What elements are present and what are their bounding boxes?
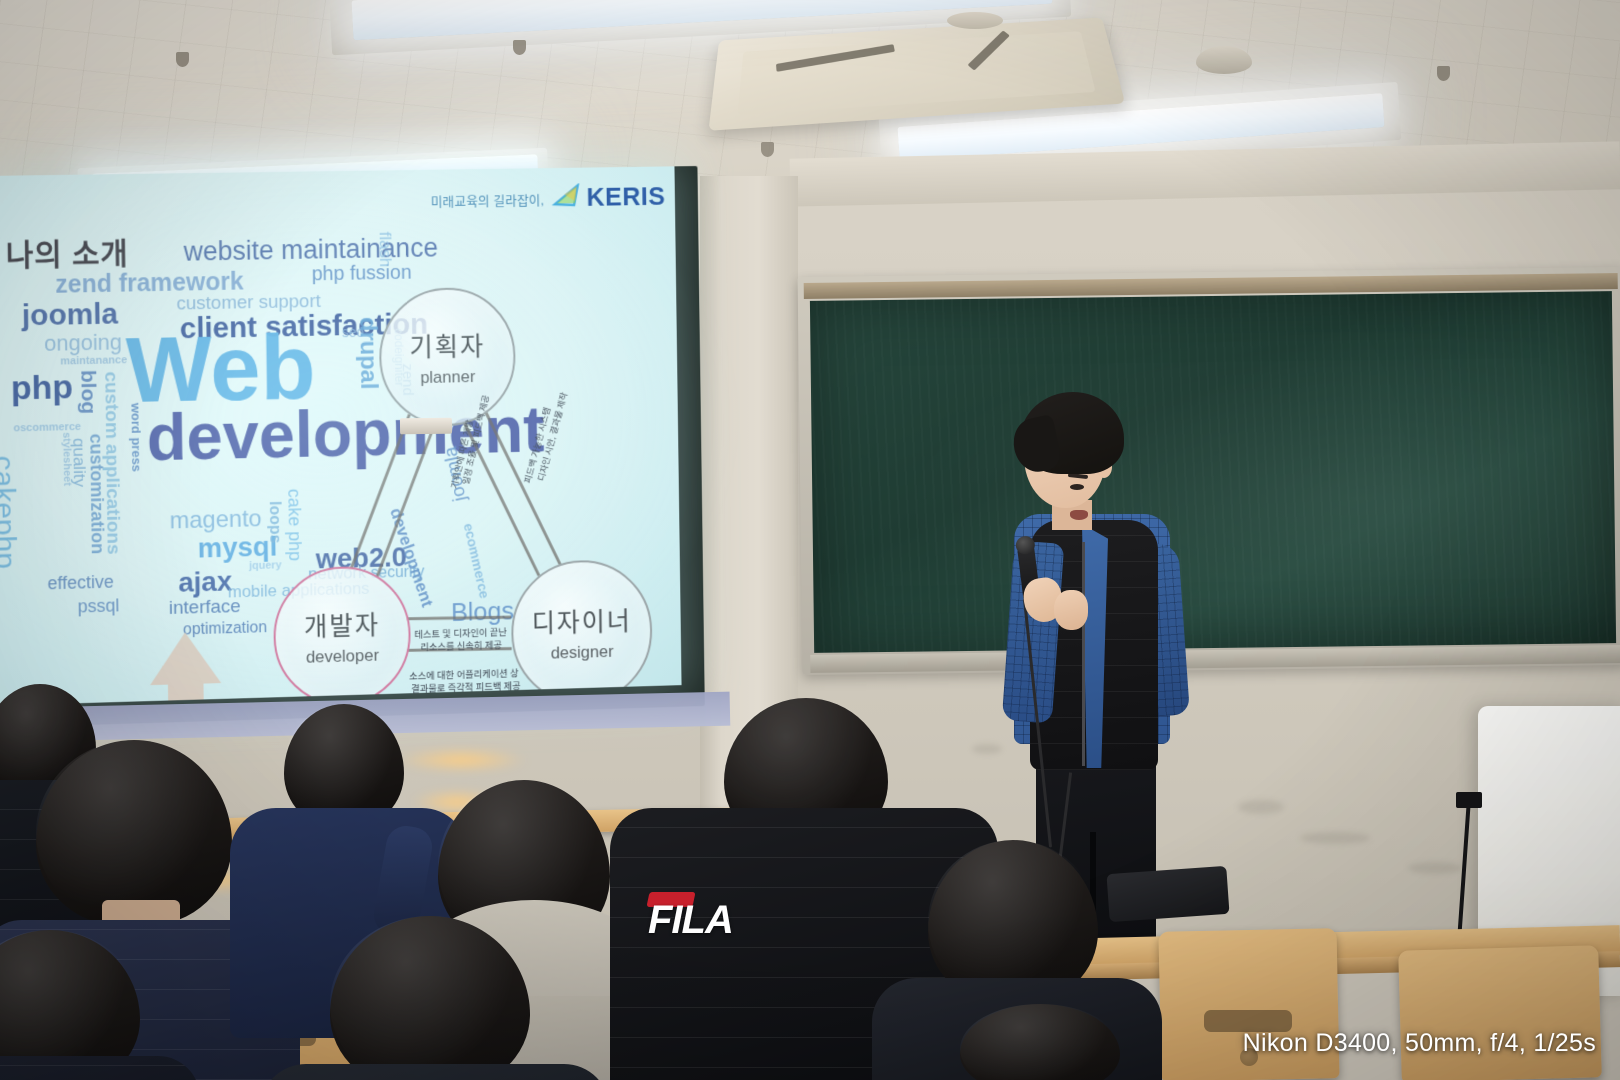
word-cloud-term: joomla (22, 300, 118, 332)
diagram-caption: 테스트 및 디자인이 끝난 (414, 627, 507, 641)
role-circle-designer: 디자이너designer (510, 559, 653, 706)
presenter-eye (1070, 484, 1084, 490)
role-circle-developer: 개발자developer (273, 565, 412, 706)
word-cloud-term: customization (87, 433, 107, 554)
role-label-ko: 개발자 (304, 605, 381, 644)
sprinkler-head-2 (513, 40, 526, 55)
word-cloud-term: magento (169, 507, 261, 533)
keris-arrow-icon (551, 183, 580, 209)
keris-wordmark: KERIS (586, 183, 665, 210)
role-label-ko: 디자이너 (531, 601, 631, 640)
role-label-ko: 기획자 (409, 326, 485, 364)
smoke-detector (1196, 46, 1252, 74)
word-cloud-term: cakephp (0, 455, 19, 569)
ceiling-vent (947, 12, 1003, 29)
presenter-vest-zipper (1082, 542, 1085, 766)
sprinkler-head-4 (1437, 66, 1450, 81)
word-cloud-term: stylesheet (60, 432, 72, 486)
fila-wordmark: FILA (648, 898, 796, 942)
keris-logo: 미래교육의 길라잡이, KERIS (431, 182, 666, 212)
wall-mark-3 (1408, 862, 1462, 874)
keris-tagline: 미래교육의 길라잡이, (431, 190, 545, 212)
projection-screen: 미래교육의 길라잡이, KERIS . 나의 소개 website mainta… (0, 166, 705, 728)
hair-highlight (330, 916, 530, 1080)
audience-head (36, 740, 232, 926)
chair-behind-presenter (1106, 866, 1229, 922)
word-cloud-term: Blogs (451, 598, 514, 625)
classroom-photo: 미래교육의 길라잡이, KERIS . 나의 소개 website mainta… (0, 0, 1620, 1080)
presenter-mouth (1070, 510, 1088, 520)
word-cloud-term: interface (169, 597, 241, 618)
audience-head (330, 916, 530, 1080)
desk-highlight-1 (396, 748, 526, 772)
word-cloud-term: effective (47, 573, 114, 593)
word-cloud-term: quality (70, 438, 88, 487)
word-cloud-term: ongoing (44, 331, 122, 354)
word-cloud-term: ajax (178, 568, 232, 597)
word-cloud-term: jquery (249, 560, 282, 572)
word-cloud-term: php (11, 370, 73, 405)
slide-surface: 미래교육의 길라잡이, KERIS . 나의 소개 website mainta… (0, 166, 682, 705)
chalkboard-eraser (400, 418, 452, 435)
word-cloud-term: blog (77, 370, 98, 415)
camera-settings-watermark: Nikon D3400, 50mm, f/4, 1/25s (1243, 1029, 1596, 1058)
word-cloud-term: php fussion (312, 263, 412, 284)
word-cloud-term: pssql (78, 596, 120, 615)
presenter-hand-right (1054, 590, 1088, 630)
role-label-en: planner (420, 367, 475, 388)
hair-highlight (36, 740, 232, 926)
sprinkler-head-3 (761, 142, 774, 157)
chair-front-right-b (1398, 945, 1602, 1080)
word-cloud-term: maintanance (60, 355, 127, 367)
arrow-up-shape (149, 631, 221, 685)
word-cloud-term: drupal (355, 317, 379, 390)
diagram-caption: 리소스를 신속히 제공 (420, 640, 502, 654)
wall-mark-2 (1300, 832, 1370, 844)
chalkboard-frame (798, 267, 1620, 675)
word-cloud-term: ecommerce (462, 522, 492, 600)
word-cloud-term: cake php (285, 488, 304, 561)
wall-mark-1 (1238, 800, 1284, 814)
word-cloud-term: word press (129, 403, 143, 472)
role-label-en: developer (306, 645, 379, 667)
chalkboard-surface (810, 291, 1616, 653)
sprinkler-head-1 (176, 52, 189, 67)
ac-inner-panel (738, 31, 1096, 115)
audience-torso (260, 1064, 610, 1080)
role-label-en: designer (551, 642, 614, 663)
slide-title: . 나의 소개 (0, 229, 129, 275)
word-cloud-term: loops (266, 501, 282, 544)
audience-torso (0, 1056, 200, 1080)
word-cloud-term: flash (377, 232, 394, 268)
